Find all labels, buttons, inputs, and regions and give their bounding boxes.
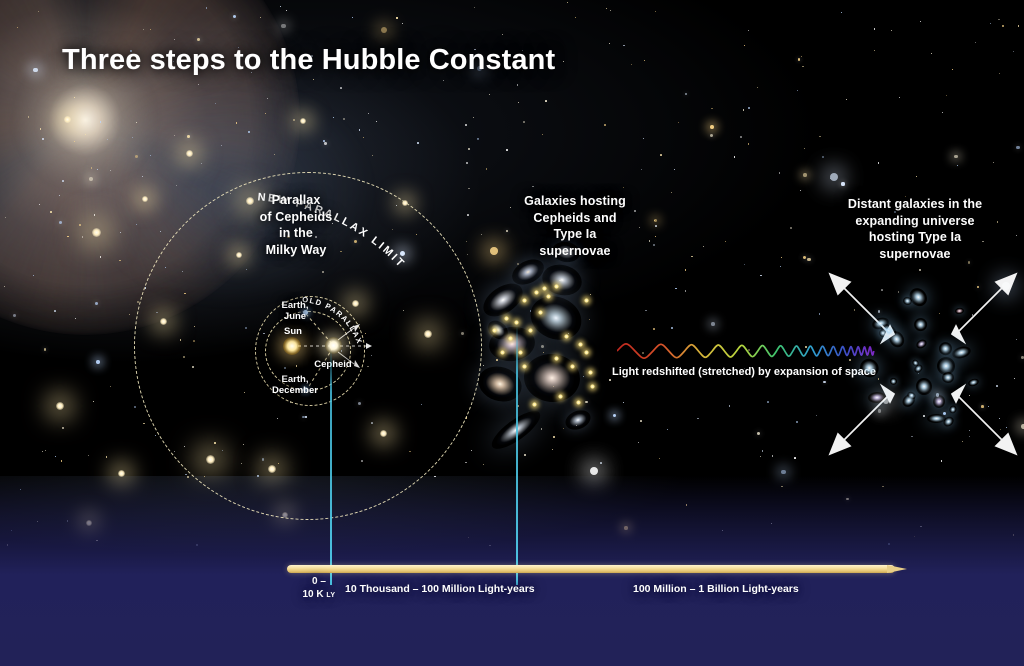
star — [916, 176, 917, 177]
star — [136, 224, 138, 226]
star — [609, 43, 610, 44]
cepheid-supernova-marker — [542, 286, 547, 291]
star — [50, 211, 52, 213]
star — [286, 10, 288, 12]
star — [725, 241, 726, 242]
star — [710, 125, 714, 129]
star — [376, 121, 377, 122]
distant-galaxy — [933, 394, 946, 408]
label-line: June — [272, 312, 318, 323]
star — [38, 11, 39, 12]
star — [248, 131, 249, 132]
distant-galaxy — [955, 307, 964, 314]
star — [685, 269, 686, 270]
distant-galaxy — [867, 391, 886, 403]
star — [685, 93, 687, 95]
star — [1013, 51, 1014, 52]
cepheid-supernova-marker — [514, 320, 519, 325]
star — [760, 275, 762, 277]
earth-june-label: Earth, June — [272, 301, 318, 323]
star — [496, 359, 498, 361]
star — [54, 310, 56, 312]
star — [160, 231, 161, 232]
star — [467, 214, 469, 216]
star — [609, 379, 611, 381]
cepheid-supernova-marker — [500, 350, 505, 355]
cepheid-supernova-marker — [504, 316, 509, 321]
star — [667, 429, 668, 430]
star — [143, 29, 144, 30]
star — [590, 294, 591, 295]
cepheid-supernova-marker — [492, 328, 497, 333]
star — [545, 100, 547, 102]
star — [466, 162, 468, 164]
star — [174, 135, 175, 136]
star — [280, 6, 281, 7]
star — [502, 34, 504, 36]
star — [1002, 25, 1003, 26]
star — [471, 450, 472, 451]
cepheid-supernova-marker — [534, 290, 539, 295]
star — [363, 137, 364, 138]
star — [975, 42, 976, 43]
star — [85, 134, 86, 135]
star — [467, 254, 468, 255]
star — [757, 432, 760, 435]
caption-line: supernovae — [822, 246, 1008, 263]
star — [802, 66, 804, 68]
star — [797, 90, 798, 91]
star — [748, 143, 750, 145]
star — [563, 61, 564, 62]
star — [604, 124, 606, 126]
star — [396, 17, 397, 18]
star — [798, 58, 800, 60]
star — [1016, 235, 1017, 236]
star — [660, 154, 662, 156]
star — [274, 154, 275, 155]
sun-label: Sun — [272, 327, 314, 338]
star — [542, 134, 543, 135]
star — [333, 117, 334, 118]
star — [653, 244, 655, 246]
star — [954, 155, 958, 159]
right-panel-caption: Distant galaxies in the expanding univer… — [822, 196, 1008, 262]
star — [39, 204, 40, 205]
cepheid-supernova-marker — [584, 298, 589, 303]
star — [136, 122, 137, 123]
caption-line: in the — [236, 225, 356, 242]
star — [352, 17, 353, 18]
star — [33, 68, 38, 73]
star — [794, 457, 796, 459]
star — [62, 427, 63, 428]
bright-star — [142, 196, 148, 202]
star — [474, 7, 475, 8]
star — [132, 137, 133, 138]
cepheid-supernova-marker — [564, 334, 569, 339]
star — [846, 99, 847, 100]
star — [106, 456, 108, 458]
bright-star — [186, 150, 193, 157]
star — [67, 236, 69, 238]
star — [293, 119, 294, 120]
distance-scale-bar — [287, 563, 907, 574]
star — [744, 264, 745, 265]
caption-line: supernovae — [500, 243, 650, 260]
star — [33, 275, 34, 276]
star — [780, 266, 781, 267]
cepheid-supernova-marker — [588, 370, 593, 375]
caption-line: Parallax — [236, 192, 356, 209]
star — [40, 128, 42, 130]
page-title: Three steps to the Hubble Constant — [62, 44, 555, 77]
star — [841, 12, 842, 13]
distant-galaxy — [942, 371, 954, 382]
star — [483, 464, 484, 465]
star — [740, 136, 742, 138]
caption-line: of Cepheids — [236, 209, 356, 226]
star — [691, 256, 693, 258]
star — [553, 436, 555, 438]
star — [100, 121, 102, 123]
star — [807, 258, 810, 261]
star — [711, 108, 713, 110]
cepheid-supernova-marker — [538, 310, 543, 315]
star — [941, 460, 943, 462]
cepheid-supernova-marker — [532, 402, 537, 407]
star — [473, 117, 474, 118]
star — [804, 148, 805, 149]
star — [711, 322, 715, 326]
scale-tick-near — [330, 350, 332, 585]
star — [655, 225, 657, 227]
star — [42, 138, 44, 140]
star — [803, 256, 806, 259]
star — [45, 450, 46, 451]
cepheid-supernova-marker — [590, 384, 595, 389]
cepheid-supernova-marker — [522, 298, 527, 303]
caption-line: Type Ia — [500, 226, 650, 243]
star — [801, 56, 802, 57]
star — [135, 155, 138, 158]
star — [841, 182, 844, 185]
cepheid-star-marker — [325, 337, 342, 354]
star — [129, 314, 130, 315]
star — [100, 256, 102, 258]
scale-bar-track — [287, 565, 895, 573]
star — [74, 97, 75, 98]
star — [743, 109, 744, 110]
star — [206, 7, 207, 8]
star — [589, 319, 591, 321]
star — [671, 192, 672, 193]
star — [107, 139, 108, 140]
cepheid-supernova-marker — [558, 394, 563, 399]
star — [59, 221, 62, 224]
star — [524, 454, 526, 456]
star — [381, 27, 387, 33]
star — [998, 19, 999, 20]
star — [233, 15, 236, 18]
star — [265, 113, 266, 114]
distant-galaxy — [889, 377, 899, 387]
star — [481, 234, 482, 235]
star — [150, 155, 151, 156]
star — [465, 462, 467, 464]
star — [638, 442, 639, 443]
star — [990, 23, 991, 24]
star — [674, 169, 675, 170]
star — [75, 318, 76, 319]
distant-galaxy — [936, 340, 954, 358]
star — [942, 112, 943, 113]
star — [641, 169, 642, 170]
caption-line: hosting Type Ia — [822, 229, 1008, 246]
star — [17, 27, 18, 28]
star — [623, 45, 625, 47]
star — [468, 148, 470, 150]
star — [55, 456, 56, 457]
sun-marker — [283, 337, 301, 355]
cepheid-supernova-marker — [554, 356, 559, 361]
star — [703, 246, 704, 247]
star — [197, 38, 200, 41]
star — [221, 145, 222, 146]
cepheid-supernova-marker — [522, 364, 527, 369]
middle-panel-caption: Galaxies hosting Cepheids and Type Ia su… — [500, 193, 650, 259]
scale-origin-line1: 0 – — [291, 576, 347, 589]
star — [97, 169, 98, 170]
star — [685, 290, 687, 292]
star — [91, 167, 93, 169]
star — [957, 165, 958, 166]
star — [523, 121, 525, 123]
star — [62, 180, 64, 182]
star — [359, 129, 361, 131]
star — [874, 50, 875, 51]
star — [781, 470, 786, 475]
star — [543, 352, 544, 353]
star — [734, 156, 736, 158]
scale-origin-label: 0 – 10 K LY — [291, 576, 347, 601]
star — [324, 142, 327, 145]
star — [655, 11, 656, 12]
cepheid-supernova-marker — [578, 342, 583, 347]
star — [600, 462, 602, 464]
star — [575, 17, 576, 18]
star — [260, 17, 261, 18]
scale-range-far-label: 100 Million – 1 Billion Light-years — [633, 583, 799, 595]
scale-origin-line2: 10 K LY — [291, 589, 347, 602]
star — [61, 460, 63, 462]
bright-star — [64, 116, 71, 123]
star — [822, 156, 824, 158]
light-year-unit: LY — [326, 592, 335, 599]
star — [643, 138, 644, 139]
star — [790, 227, 792, 229]
star — [468, 188, 470, 190]
star — [757, 87, 758, 88]
star — [610, 10, 611, 11]
infographic-canvas: Three steps to the Hubble Constant NEW P… — [0, 0, 1024, 666]
star — [506, 149, 508, 151]
expanding-galaxy-cluster — [838, 278, 1008, 448]
star — [1018, 25, 1020, 27]
caption-line: Distant galaxies in the — [822, 196, 1008, 213]
star — [486, 168, 488, 170]
star — [187, 135, 190, 138]
scale-range-near-label: 10 Thousand – 100 Million Light-years — [345, 583, 535, 595]
star — [120, 232, 121, 233]
star — [74, 141, 75, 142]
star — [920, 21, 921, 22]
star — [671, 327, 673, 329]
star — [490, 247, 498, 255]
star — [655, 236, 656, 237]
bright-star — [92, 228, 101, 237]
distant-galaxy — [915, 338, 928, 350]
left-panel-caption: Parallax of Cepheids in the Milky Way — [236, 192, 356, 258]
star — [201, 163, 202, 164]
distant-galaxy — [906, 284, 930, 308]
star — [552, 449, 553, 450]
star — [417, 142, 419, 144]
star — [119, 260, 120, 261]
star — [583, 376, 584, 377]
star — [466, 241, 468, 243]
caption-line: Cepheids and — [500, 210, 650, 227]
scale-bar-arrow-tip — [887, 565, 907, 573]
star — [343, 118, 345, 120]
star — [653, 328, 655, 330]
star — [678, 122, 679, 123]
star — [644, 60, 645, 61]
distant-galaxy — [878, 329, 886, 337]
star — [368, 113, 370, 115]
star — [779, 172, 780, 173]
star — [631, 64, 632, 65]
distant-galaxy — [950, 344, 971, 360]
star — [952, 69, 953, 70]
cepheid-supernova-marker — [518, 350, 523, 355]
star — [541, 428, 543, 430]
star — [517, 84, 519, 86]
star — [541, 345, 544, 348]
star — [28, 116, 30, 118]
star — [155, 435, 156, 436]
star — [767, 401, 769, 403]
star — [803, 173, 807, 177]
star — [110, 170, 111, 171]
cepheid-label: Cepheid — [305, 360, 361, 371]
cepheid-supernova-marker — [584, 350, 589, 355]
distant-galaxy — [915, 378, 933, 396]
star — [744, 45, 745, 46]
star — [443, 80, 444, 81]
cepheid-supernova-marker — [554, 284, 559, 289]
star — [760, 456, 761, 457]
star — [874, 28, 876, 30]
star — [623, 402, 624, 403]
star — [819, 136, 820, 137]
star — [340, 87, 342, 89]
star — [215, 103, 216, 104]
star — [96, 360, 100, 364]
star — [5, 217, 6, 218]
star — [134, 406, 136, 408]
star — [899, 97, 900, 98]
star — [640, 420, 642, 422]
star — [143, 423, 145, 425]
star — [142, 176, 144, 178]
star — [613, 414, 617, 418]
cepheid-supernova-marker — [576, 400, 581, 405]
star — [675, 288, 677, 290]
star — [993, 162, 994, 163]
star — [465, 124, 467, 126]
star — [13, 314, 16, 317]
star — [645, 310, 646, 311]
star — [89, 177, 93, 181]
earth-december-label: Earth, December — [264, 375, 326, 397]
star — [931, 53, 933, 55]
star — [281, 24, 286, 29]
star — [94, 214, 95, 215]
bright-star — [56, 402, 64, 410]
star — [93, 401, 94, 402]
star — [585, 401, 588, 404]
bright-star — [300, 118, 306, 124]
star — [772, 455, 774, 457]
star — [236, 122, 238, 124]
star — [878, 162, 880, 164]
star — [697, 418, 698, 419]
star — [816, 415, 818, 417]
star — [59, 195, 60, 196]
star — [489, 94, 490, 95]
star — [174, 39, 175, 40]
star — [590, 467, 598, 475]
star — [999, 73, 1000, 74]
star — [891, 30, 892, 31]
star — [372, 155, 374, 157]
distant-galaxy — [856, 355, 882, 381]
star — [44, 348, 47, 351]
star — [42, 451, 43, 452]
star — [532, 186, 533, 187]
star — [800, 190, 801, 191]
star — [4, 286, 5, 287]
star — [110, 386, 112, 388]
star — [79, 224, 81, 226]
star — [946, 95, 947, 96]
scale-tick-mid — [516, 325, 518, 585]
star — [1016, 146, 1019, 149]
cepheid-supernova-marker — [528, 328, 533, 333]
star — [563, 428, 565, 430]
cepheid-supernova-marker — [546, 294, 551, 299]
star — [402, 23, 403, 24]
star — [95, 302, 98, 305]
star — [748, 30, 749, 31]
star — [659, 458, 660, 459]
caption-line: Milky Way — [236, 242, 356, 259]
caption-line: expanding universe — [822, 213, 1008, 230]
cepheid-supernova-marker — [570, 364, 575, 369]
distant-galaxy — [948, 404, 958, 414]
caption-line: Galaxies hosting — [500, 193, 650, 210]
